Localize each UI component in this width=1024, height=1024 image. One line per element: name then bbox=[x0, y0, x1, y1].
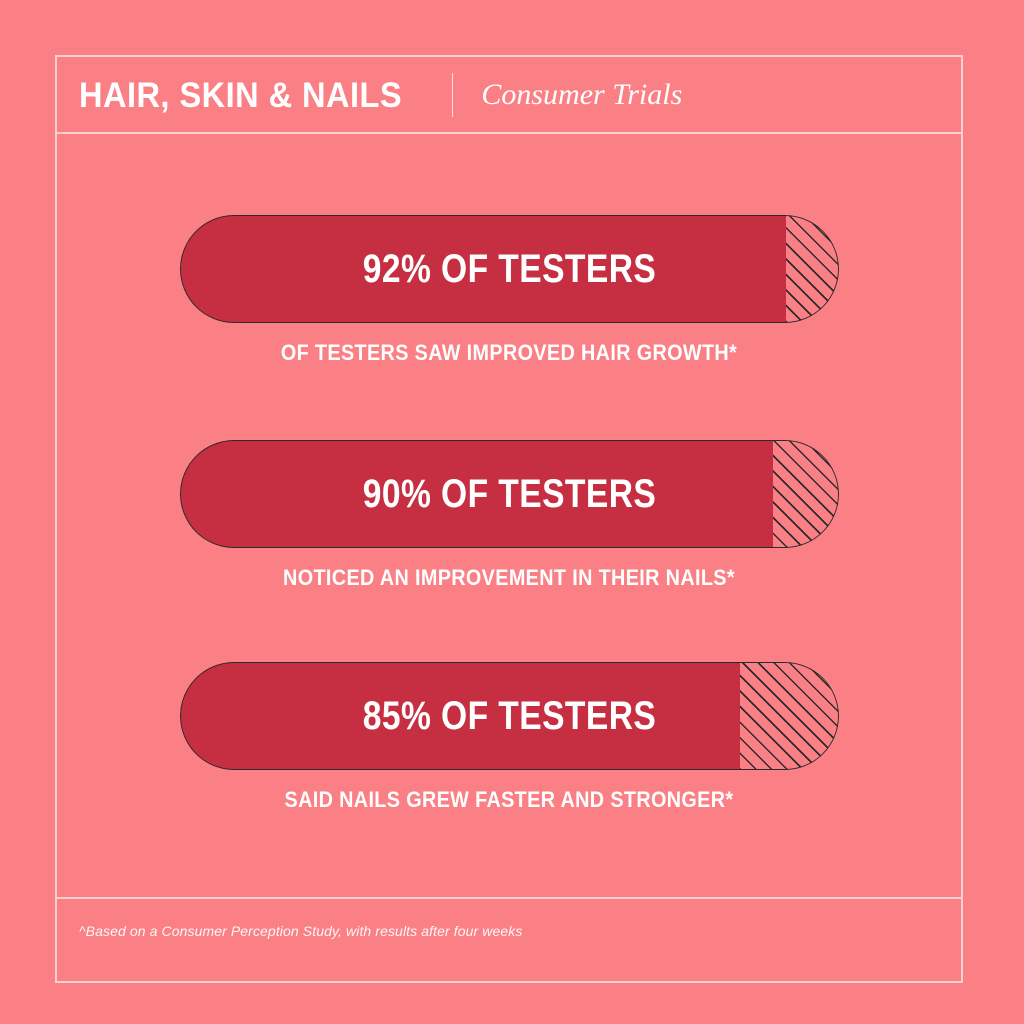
progress-bar-track: 85% OF TESTERS bbox=[180, 662, 839, 770]
progress-bar-track: 90% OF TESTERS bbox=[180, 440, 839, 548]
footnote-text: ^Based on a Consumer Perception Study, w… bbox=[79, 923, 522, 939]
header-subtitle: Consumer Trials bbox=[481, 80, 682, 110]
page-title: HAIR, SKIN & NAILS bbox=[79, 78, 402, 113]
bar-fill bbox=[180, 215, 786, 323]
stat-block: 85% OF TESTERS SAID NAILS GREW FASTER AN… bbox=[57, 662, 961, 813]
progress-bar-track: 92% OF TESTERS bbox=[180, 215, 839, 323]
infographic-card: HAIR, SKIN & NAILS Consumer Trials 92% O… bbox=[55, 55, 963, 983]
stat-bars-group: 92% OF TESTERS OF TESTERS SAW IMPROVED H… bbox=[57, 133, 961, 897]
stat-caption: SAID NAILS GREW FASTER AND STRONGER* bbox=[102, 787, 916, 813]
bar-fill bbox=[180, 440, 773, 548]
header-divider bbox=[452, 73, 453, 117]
header: HAIR, SKIN & NAILS Consumer Trials bbox=[57, 57, 961, 133]
stat-caption: NOTICED AN IMPROVEMENT IN THEIR NAILS* bbox=[102, 565, 916, 591]
stat-caption: OF TESTERS SAW IMPROVED HAIR GROWTH* bbox=[102, 340, 916, 366]
stat-block: 90% OF TESTERS NOTICED AN IMPROVEMENT IN… bbox=[57, 440, 961, 591]
rule-bottom bbox=[57, 897, 961, 899]
bar-fill bbox=[180, 662, 740, 770]
stat-block: 92% OF TESTERS OF TESTERS SAW IMPROVED H… bbox=[57, 215, 961, 366]
